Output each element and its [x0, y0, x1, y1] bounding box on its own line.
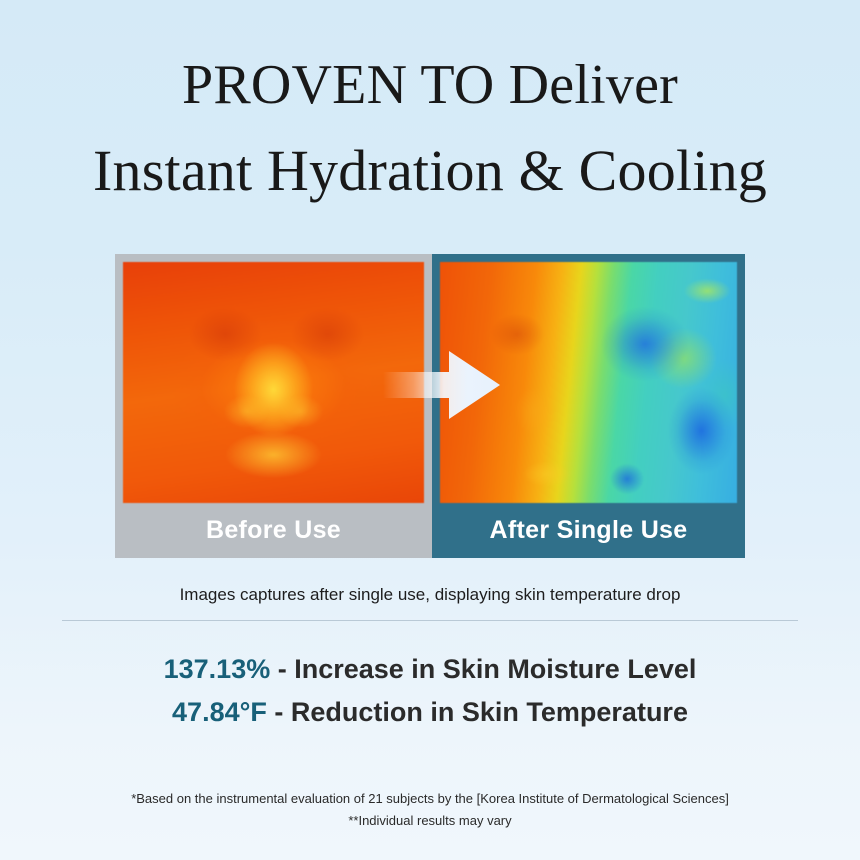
statistic-row: 137.13% - Increase in Skin Moisture Leve… [0, 648, 860, 691]
thermal-image-after [440, 262, 737, 503]
statistic-label: Reduction in Skin Temperature [291, 697, 688, 727]
before-after-comparison: Before Use After Single Use [115, 254, 745, 558]
page-title: PROVEN TO Deliver Instant Hydration & Co… [0, 0, 860, 214]
statistic-label: Increase in Skin Moisture Level [294, 654, 696, 684]
after-label-text: After Single Use [490, 516, 688, 545]
statistic-value: 47.84°F [172, 697, 267, 727]
comparison-caption: Images captures after single use, displa… [0, 585, 860, 605]
before-panel: Before Use [115, 254, 432, 558]
statistic-separator: - [270, 654, 294, 684]
after-panel: After Single Use [432, 254, 745, 558]
headline-line-1: PROVEN TO Deliver [0, 42, 860, 128]
thermal-image-before [123, 262, 424, 503]
headline-line-2: Instant Hydration & Cooling [0, 128, 860, 214]
statistic-value: 137.13% [164, 654, 271, 684]
section-divider [62, 620, 798, 621]
before-label-text: Before Use [206, 516, 341, 545]
footnote-secondary: **Individual results may vary [0, 810, 860, 832]
after-label-bar: After Single Use [440, 503, 737, 558]
footnotes: *Based on the instrumental evaluation of… [0, 788, 860, 832]
before-label-bar: Before Use [123, 503, 424, 558]
footnote-primary: *Based on the instrumental evaluation of… [0, 788, 860, 810]
statistic-separator: - [267, 697, 291, 727]
statistic-row: 47.84°F - Reduction in Skin Temperature [0, 691, 860, 734]
statistics-list: 137.13% - Increase in Skin Moisture Leve… [0, 648, 860, 734]
